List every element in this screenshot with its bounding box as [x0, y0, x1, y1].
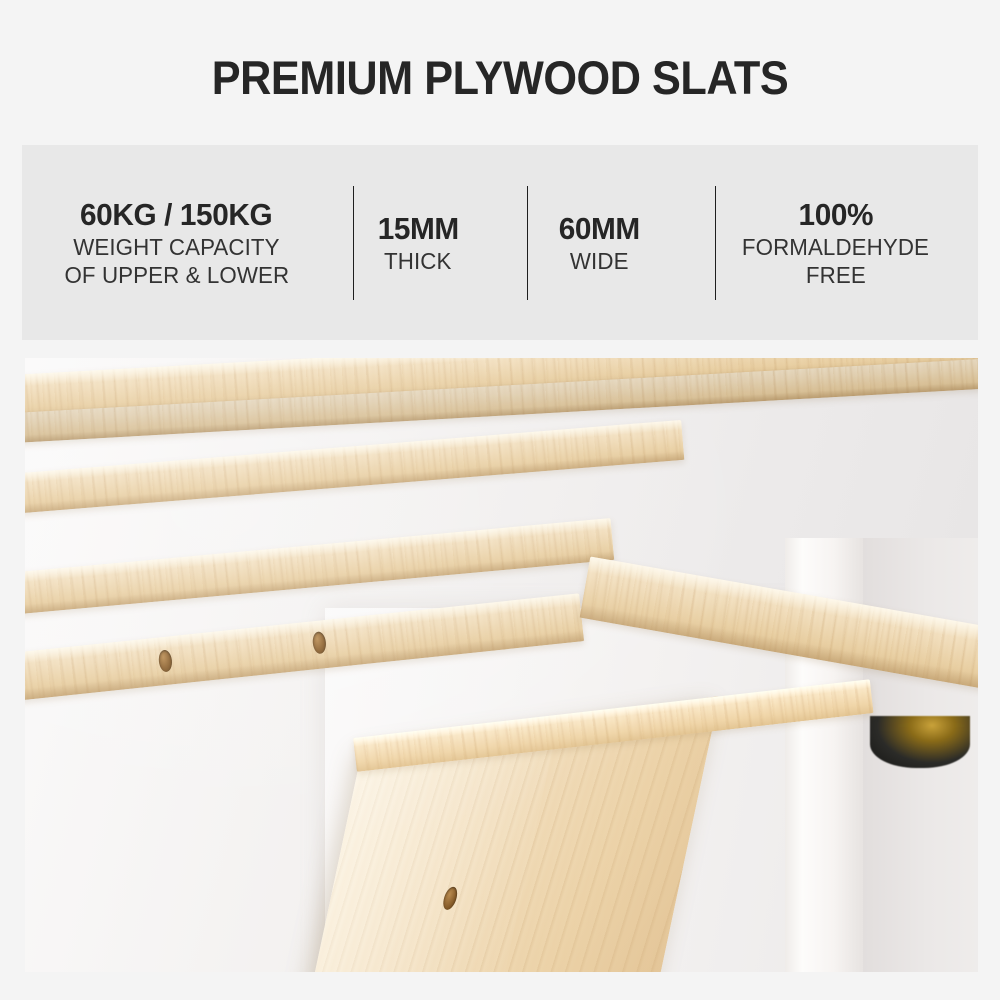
spec-divider — [353, 186, 354, 300]
spec-item-weight-capacity: 60KG / 150KG WEIGHT CAPACITY OF UPPER & … — [22, 145, 331, 340]
spec-subline: OF UPPER & LOWER — [64, 261, 289, 289]
product-photo: AUSTRALIAN STANDARD MATTRESS COMPATIBLE — [25, 358, 978, 972]
spec-headline: 60KG / 150KG — [80, 197, 272, 233]
spec-subline: THICK — [384, 247, 451, 275]
spec-headline: 60MM — [558, 211, 639, 247]
spec-panel: 60KG / 150KG WEIGHT CAPACITY OF UPPER & … — [22, 145, 978, 340]
spec-divider — [527, 186, 528, 300]
spec-item-formaldehyde-free: 100% FORMALDEHYDE FREE — [693, 145, 978, 340]
bed-hardware-fitting — [870, 716, 970, 768]
spec-item-width: 60MM WIDE — [505, 145, 693, 340]
spec-subline: WIDE — [570, 247, 629, 275]
page-title: PREMIUM PLYWOOD SLATS — [40, 52, 960, 104]
spec-headline: 100% — [798, 197, 873, 233]
spec-divider — [715, 186, 716, 300]
spec-item-thickness: 15MM THICK — [331, 145, 505, 340]
spec-subline: FREE — [806, 261, 866, 289]
spec-subline: FORMALDEHYDE — [742, 233, 929, 261]
spec-headline: 15MM — [377, 211, 458, 247]
spec-subline: WEIGHT CAPACITY — [73, 233, 279, 261]
